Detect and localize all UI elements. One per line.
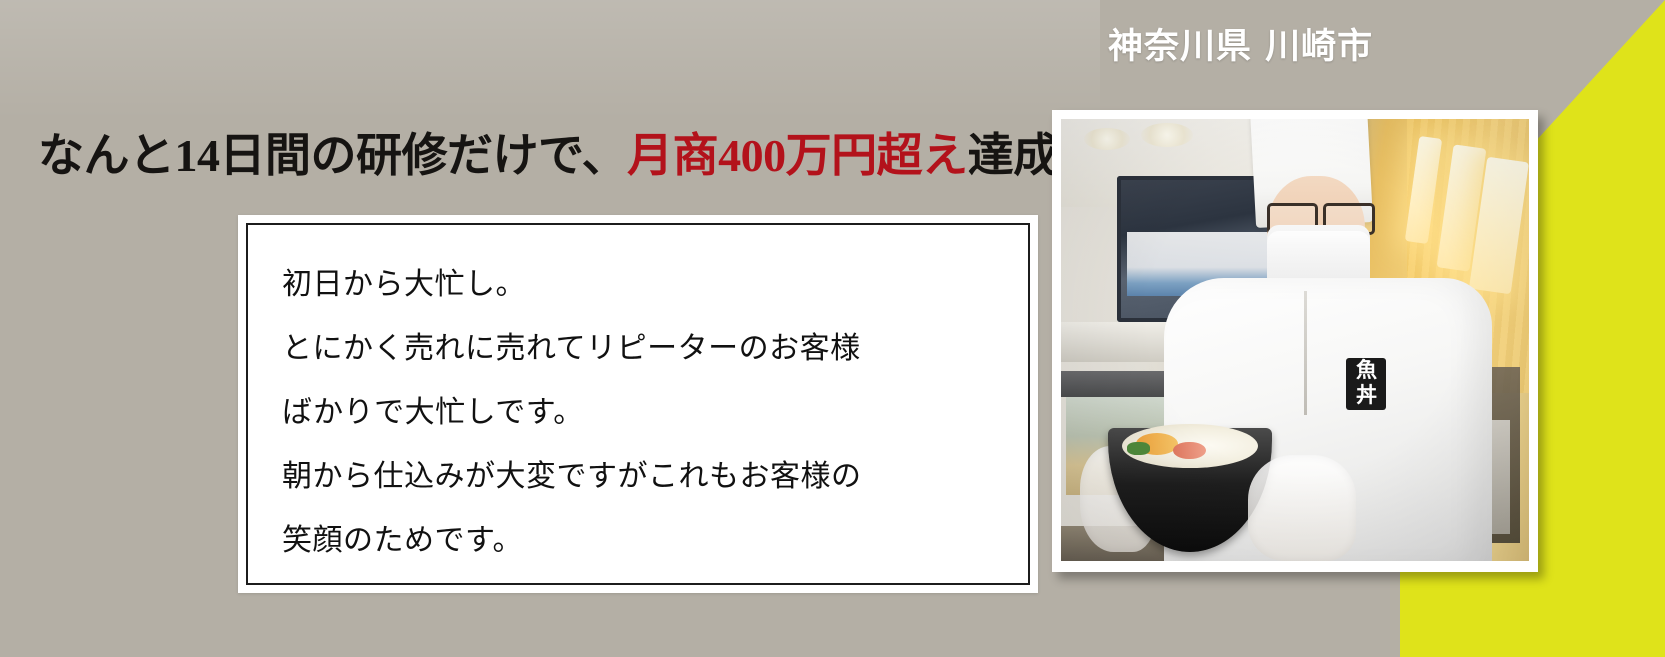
promo-banner: 神奈川県 川崎市 なんと14日間の研修だけで、月商400万円超え達成！ 初日から… [0,0,1665,657]
testimonial-line: 笑顔のためです。 [282,509,998,573]
photo-vignette [1061,119,1529,561]
owner-photo-frame: 魚丼 [1052,110,1538,572]
headline-prefix: なんと14日間の研修だけで、 [38,130,627,181]
page-title: なんと14日間の研修だけで、月商400万円超え達成！ [38,133,1104,179]
testimonial-line: ばかりで大忙しです。 [282,381,998,445]
testimonial-line: 初日から大忙し。 [282,253,998,317]
testimonial-card-inner: 初日から大忙し。 とにかく売れに売れてリピーターのお客様 ばかりで大忙しです。 … [246,223,1030,585]
testimonial-line: 朝から仕込みが大変ですがこれもお客様の [282,445,998,509]
testimonial-line: とにかく売れに売れてリピーターのお客様 [282,317,998,381]
testimonial-card: 初日から大忙し。 とにかく売れに売れてリピーターのお客様 ばかりで大忙しです。 … [238,215,1038,593]
location-label: 神奈川県 川崎市 [1108,26,1373,68]
owner-photo: 魚丼 [1061,119,1529,561]
headline-highlight: 月商400万円超え [627,130,968,181]
